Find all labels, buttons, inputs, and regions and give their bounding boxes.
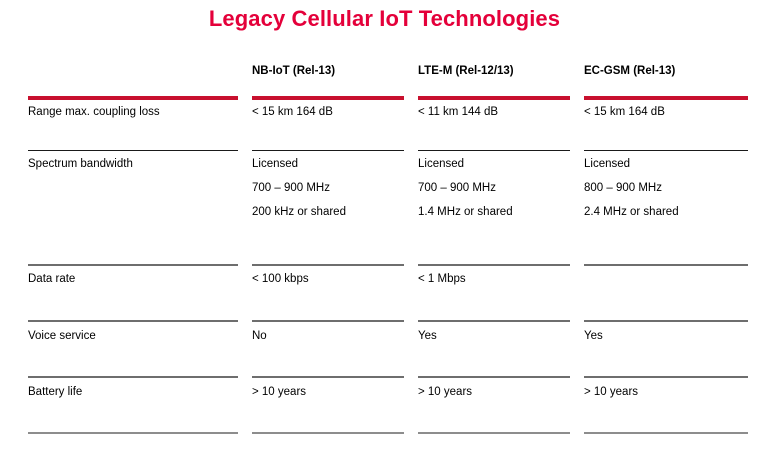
table-column-labels: Range max. coupling loss Spectrum bandwi… — [28, 0, 238, 462]
table-column-ec-gsm: EC-GSM (Rel-13) < 15 km 164 dB Licensed … — [584, 0, 748, 462]
row-rule-bottom — [418, 432, 570, 434]
table-cell: Yes — [418, 329, 437, 344]
row-rule-range — [584, 96, 748, 100]
table-cell: Licensed 700 – 900 MHz 1.4 MHz or shared — [418, 157, 513, 220]
row-rule-datarate — [252, 264, 404, 266]
row-rule-datarate — [418, 264, 570, 266]
row-rule-bottom — [584, 432, 748, 434]
row-rule-battery — [418, 376, 570, 378]
table-cell: > 10 years — [252, 385, 306, 400]
row-label-voice: Voice service — [28, 329, 96, 344]
row-rule-voice — [584, 320, 748, 322]
row-rule-battery — [252, 376, 404, 378]
table-cell: Licensed 800 – 900 MHz 2.4 MHz or shared — [584, 157, 679, 220]
table-cell: < 11 km 144 dB — [418, 105, 498, 120]
row-rule-spectrum — [584, 150, 748, 151]
column-header-lte-m: LTE-M (Rel-12/13) — [418, 64, 514, 78]
column-header-ec-gsm: EC-GSM (Rel-13) — [584, 64, 675, 78]
row-rule-range — [252, 96, 404, 100]
row-rule-range — [418, 96, 570, 100]
table-cell: < 15 km 164 dB — [584, 105, 665, 120]
row-label-datarate: Data rate — [28, 272, 75, 287]
table-column-lte-m: LTE-M (Rel-12/13) < 11 km 144 dB License… — [418, 0, 570, 462]
row-rule-battery — [584, 376, 748, 378]
table-cell: No — [252, 329, 267, 344]
row-rule-datarate — [28, 264, 238, 266]
table-cell: < 1 Mbps — [418, 272, 466, 287]
row-rule-datarate — [584, 264, 748, 266]
table-cell: > 10 years — [584, 385, 638, 400]
table-cell: Licensed 700 – 900 MHz 200 kHz or shared — [252, 157, 346, 220]
row-rule-spectrum — [418, 150, 570, 151]
row-rule-battery — [28, 376, 238, 378]
row-label-battery: Battery life — [28, 385, 82, 400]
comparison-table: Range max. coupling loss Spectrum bandwi… — [0, 0, 769, 462]
row-label-range: Range max. coupling loss — [28, 105, 160, 120]
row-rule-spectrum — [28, 150, 238, 151]
table-cell: > 10 years — [418, 385, 472, 400]
row-rule-bottom — [252, 432, 404, 434]
table-cell: < 100 kbps — [252, 272, 309, 287]
row-rule-bottom — [28, 432, 238, 434]
row-rule-range — [28, 96, 238, 100]
column-header-nb-iot: NB-IoT (Rel-13) — [252, 64, 335, 78]
table-cell: < 15 km 164 dB — [252, 105, 333, 120]
row-rule-voice — [418, 320, 570, 322]
table-cell: Yes — [584, 329, 603, 344]
row-rule-voice — [28, 320, 238, 322]
row-label-spectrum: Spectrum bandwidth — [28, 157, 133, 172]
row-rule-spectrum — [252, 150, 404, 151]
row-rule-voice — [252, 320, 404, 322]
table-column-nb-iot: NB-IoT (Rel-13) < 15 km 164 dB Licensed … — [252, 0, 404, 462]
